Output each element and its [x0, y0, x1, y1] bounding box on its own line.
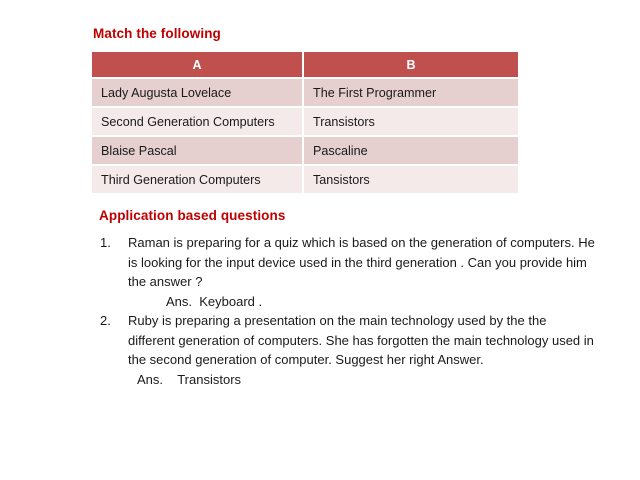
question-text: Raman is preparing for a quiz which is b… — [128, 233, 595, 292]
list-item: 2. Ruby is preparing a presentation on t… — [95, 311, 595, 389]
column-header-a: A — [92, 52, 304, 79]
table-row: Second Generation Computers Transistors — [92, 108, 518, 137]
list-item: 1. Raman is preparing for a quiz which i… — [95, 233, 595, 311]
answer-text: Ans. Transistors — [128, 370, 595, 390]
question-text: Ruby is preparing a presentation on the … — [128, 311, 595, 370]
match-the-following-heading: Match the following — [93, 26, 221, 41]
cell-column-b: Transistors — [304, 108, 518, 137]
question-number: 2. — [100, 311, 122, 331]
match-the-following-table: A B Lady Augusta Lovelace The First Prog… — [92, 52, 518, 193]
table-row: Third Generation Computers Tansistors — [92, 166, 518, 193]
slide-canvas: Match the following A B Lady Augusta Lov… — [0, 0, 640, 480]
question-number: 1. — [100, 233, 122, 253]
table-row: Lady Augusta Lovelace The First Programm… — [92, 79, 518, 108]
column-header-b: B — [304, 52, 518, 79]
cell-column-a: Second Generation Computers — [92, 108, 304, 137]
cell-column-b: Pascaline — [304, 137, 518, 166]
answer-text: Ans. Keyboard . — [128, 292, 595, 312]
application-based-questions-heading: Application based questions — [99, 208, 285, 223]
cell-column-b: The First Programmer — [304, 79, 518, 108]
cell-column-b: Tansistors — [304, 166, 518, 193]
table-header-row: A B — [92, 52, 518, 79]
cell-column-a: Third Generation Computers — [92, 166, 304, 193]
cell-column-a: Lady Augusta Lovelace — [92, 79, 304, 108]
table-row: Blaise Pascal Pascaline — [92, 137, 518, 166]
questions-list: 1. Raman is preparing for a quiz which i… — [95, 233, 595, 389]
cell-column-a: Blaise Pascal — [92, 137, 304, 166]
